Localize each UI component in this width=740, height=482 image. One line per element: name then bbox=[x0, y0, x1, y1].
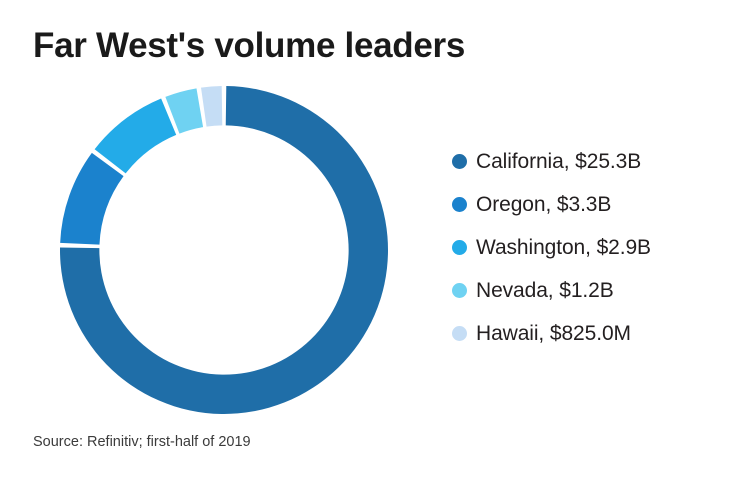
source-note: Source: Refinitiv; first-half of 2019 bbox=[33, 434, 251, 450]
legend-color-swatch-icon bbox=[452, 154, 467, 169]
legend-item-label: Hawaii, $825.0M bbox=[476, 322, 631, 346]
legend-item-label: Nevada, $1.2B bbox=[476, 279, 614, 303]
donut-slice-group: California, $25.3BOregon, $3.3BWashingto… bbox=[60, 86, 388, 414]
legend-item-label: Oregon, $3.3B bbox=[476, 193, 611, 217]
legend-color-swatch-icon bbox=[452, 283, 467, 298]
page-title: Far West's volume leaders bbox=[33, 26, 465, 66]
legend-color-swatch-icon bbox=[452, 197, 467, 212]
legend-color-swatch-icon bbox=[452, 240, 467, 255]
legend-item-label: Washington, $2.9B bbox=[476, 236, 651, 260]
legend-item[interactable]: Washington, $2.9B bbox=[452, 226, 722, 269]
chart-legend: California, $25.3BOregon, $3.3BWashingto… bbox=[452, 140, 722, 355]
donut-chart: California, $25.3BOregon, $3.3BWashingto… bbox=[57, 83, 391, 417]
legend-item[interactable]: Nevada, $1.2B bbox=[452, 269, 722, 312]
legend-item[interactable]: Oregon, $3.3B bbox=[452, 183, 722, 226]
legend-item[interactable]: Hawaii, $825.0M bbox=[452, 312, 722, 355]
legend-item-label: California, $25.3B bbox=[476, 150, 641, 174]
donut-chart-svg: California, $25.3BOregon, $3.3BWashingto… bbox=[57, 83, 391, 417]
legend-item[interactable]: California, $25.3B bbox=[452, 140, 722, 183]
donut-slice[interactable]: Hawaii, $825.0M bbox=[201, 86, 222, 127]
donut-slice[interactable]: Washington, $2.9B bbox=[95, 99, 177, 174]
legend-color-swatch-icon bbox=[452, 326, 467, 341]
donut-slice[interactable]: Oregon, $3.3B bbox=[60, 153, 123, 245]
